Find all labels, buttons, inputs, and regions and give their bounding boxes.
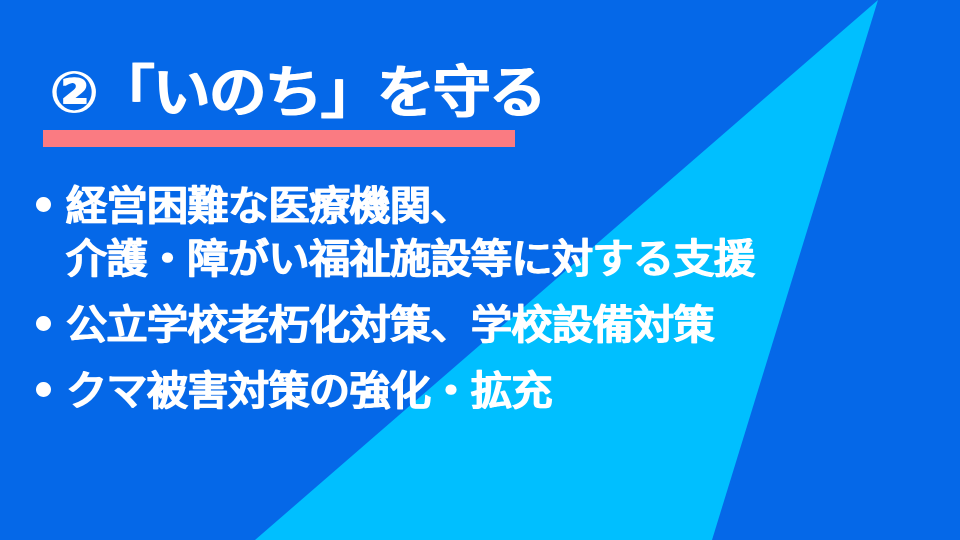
- list-item-label: 公立学校老朽化対策、学校設備対策: [66, 299, 714, 352]
- slide-title-block: ②「いのち」を守る: [43, 56, 923, 148]
- bullet-dot-icon: [36, 197, 51, 212]
- list-item-label: 経営困難な医療機関、 介護・障がい福祉施設等に対する支援: [66, 180, 755, 286]
- slide-canvas: ②「いのち」を守る 経営困難な医療機関、 介護・障がい福祉施設等に対する支援 公…: [0, 0, 960, 540]
- list-item-label: クマ被害対策の強化・拡充: [66, 365, 552, 418]
- list-item: クマ被害対策の強化・拡充: [36, 365, 944, 418]
- list-item: 公立学校老朽化対策、学校設備対策: [36, 299, 944, 352]
- page-title: ②「いのち」を守る: [50, 56, 545, 130]
- bullet-list: 経営困難な医療機関、 介護・障がい福祉施設等に対する支援 公立学校老朽化対策、学…: [36, 180, 944, 431]
- bullet-dot-icon: [36, 316, 51, 331]
- slide-content: ②「いのち」を守る 経営困難な医療機関、 介護・障がい福祉施設等に対する支援 公…: [0, 0, 960, 540]
- list-item: 経営困難な医療機関、 介護・障がい福祉施設等に対する支援: [36, 180, 944, 286]
- bullet-dot-icon: [36, 382, 51, 397]
- title-underline-bar: [43, 130, 515, 147]
